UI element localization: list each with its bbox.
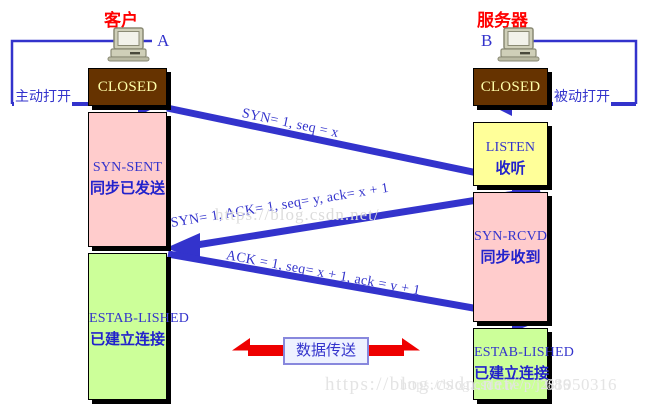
server-state-syn-rcvd: SYN-RCVD 同步收到: [473, 192, 548, 322]
server-state-syn-rcvd-label: SYN-RCVD: [474, 229, 547, 245]
server-state-established-label: ESTAB-LISHED: [474, 345, 547, 361]
server-passive-open-label: 被动打开: [553, 86, 611, 106]
server-state-closed: CLOSED: [473, 68, 548, 106]
watermark-id-bottom: 68950316: [545, 375, 617, 395]
client-state-syn-sent-label-cn: 同步已发送: [89, 177, 166, 198]
watermark-url-middle: https://blog.csdn.net/: [215, 205, 380, 225]
data-transfer-box: 数据传送: [283, 337, 369, 365]
server-state-listen-label: LISTEN: [474, 140, 547, 156]
client-state-established-label: ESTAB-LISHED: [89, 311, 166, 327]
server-state-closed-label: CLOSED: [474, 79, 547, 96]
client-state-closed: CLOSED: [88, 68, 167, 106]
client-state-established-label-cn: 已建立连接: [89, 328, 166, 349]
server-state-syn-rcvd-label-cn: 同步收到: [474, 246, 547, 267]
client-state-syn-sent-label: SYN-SENT: [89, 160, 166, 176]
client-node-letter: A: [157, 31, 169, 51]
tcp-handshake-diagram: 客户 A 主动打开 CLOSED SYN-SENT 同步已发送 ESTAB-LI…: [0, 0, 652, 409]
client-state-syn-sent: SYN-SENT 同步已发送: [88, 112, 167, 247]
client-state-established: ESTAB-LISHED 已建立连接: [88, 253, 167, 400]
server-node-letter: B: [481, 31, 492, 51]
server-state-listen-label-cn: 收听: [474, 157, 547, 178]
server-state-listen: LISTEN 收听: [473, 122, 548, 186]
client-state-closed-label: CLOSED: [89, 79, 166, 96]
client-active-open-label: 主动打开: [14, 86, 72, 106]
